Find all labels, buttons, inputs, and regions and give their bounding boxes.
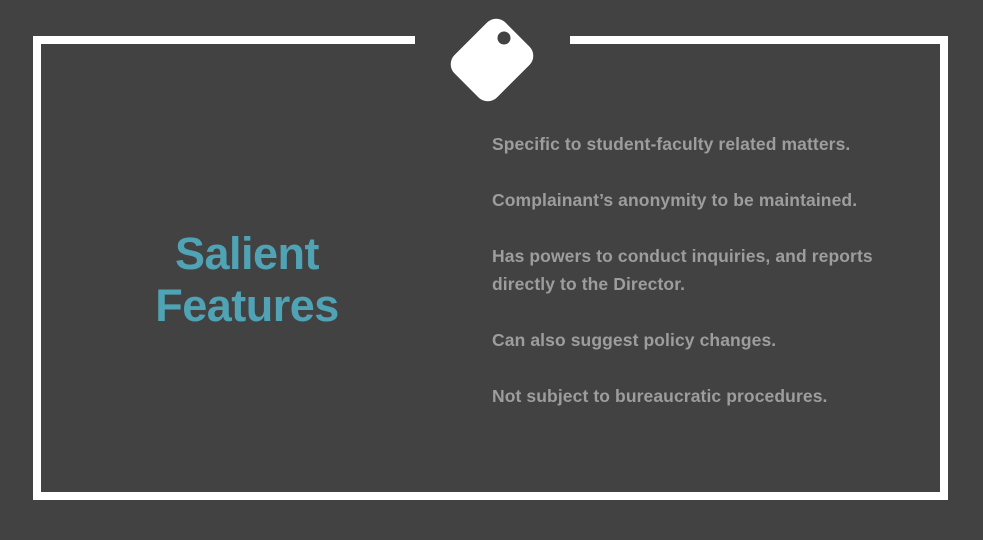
- frame-border-top-right: [570, 36, 948, 44]
- list-item: Has powers to conduct inquiries, and rep…: [492, 242, 922, 298]
- frame-border-bottom: [33, 492, 948, 500]
- frame-border-top-left: [33, 36, 415, 44]
- page-title-line-1: Salient: [41, 228, 453, 280]
- tag-icon: [442, 10, 542, 110]
- feature-list: Specific to student-faculty related matt…: [492, 130, 922, 410]
- list-item: Complainant’s anonymity to be maintained…: [492, 186, 922, 214]
- list-item: Specific to student-faculty related matt…: [492, 130, 922, 158]
- list-item: Not subject to bureaucratic procedures.: [492, 382, 922, 410]
- frame-border-right: [940, 36, 948, 500]
- slide-canvas: Salient Features Specific to student-fac…: [0, 0, 983, 540]
- frame-border-left: [33, 36, 41, 500]
- list-item: Can also suggest policy changes.: [492, 326, 922, 354]
- page-title: Salient Features: [41, 228, 453, 332]
- page-title-line-2: Features: [41, 280, 453, 332]
